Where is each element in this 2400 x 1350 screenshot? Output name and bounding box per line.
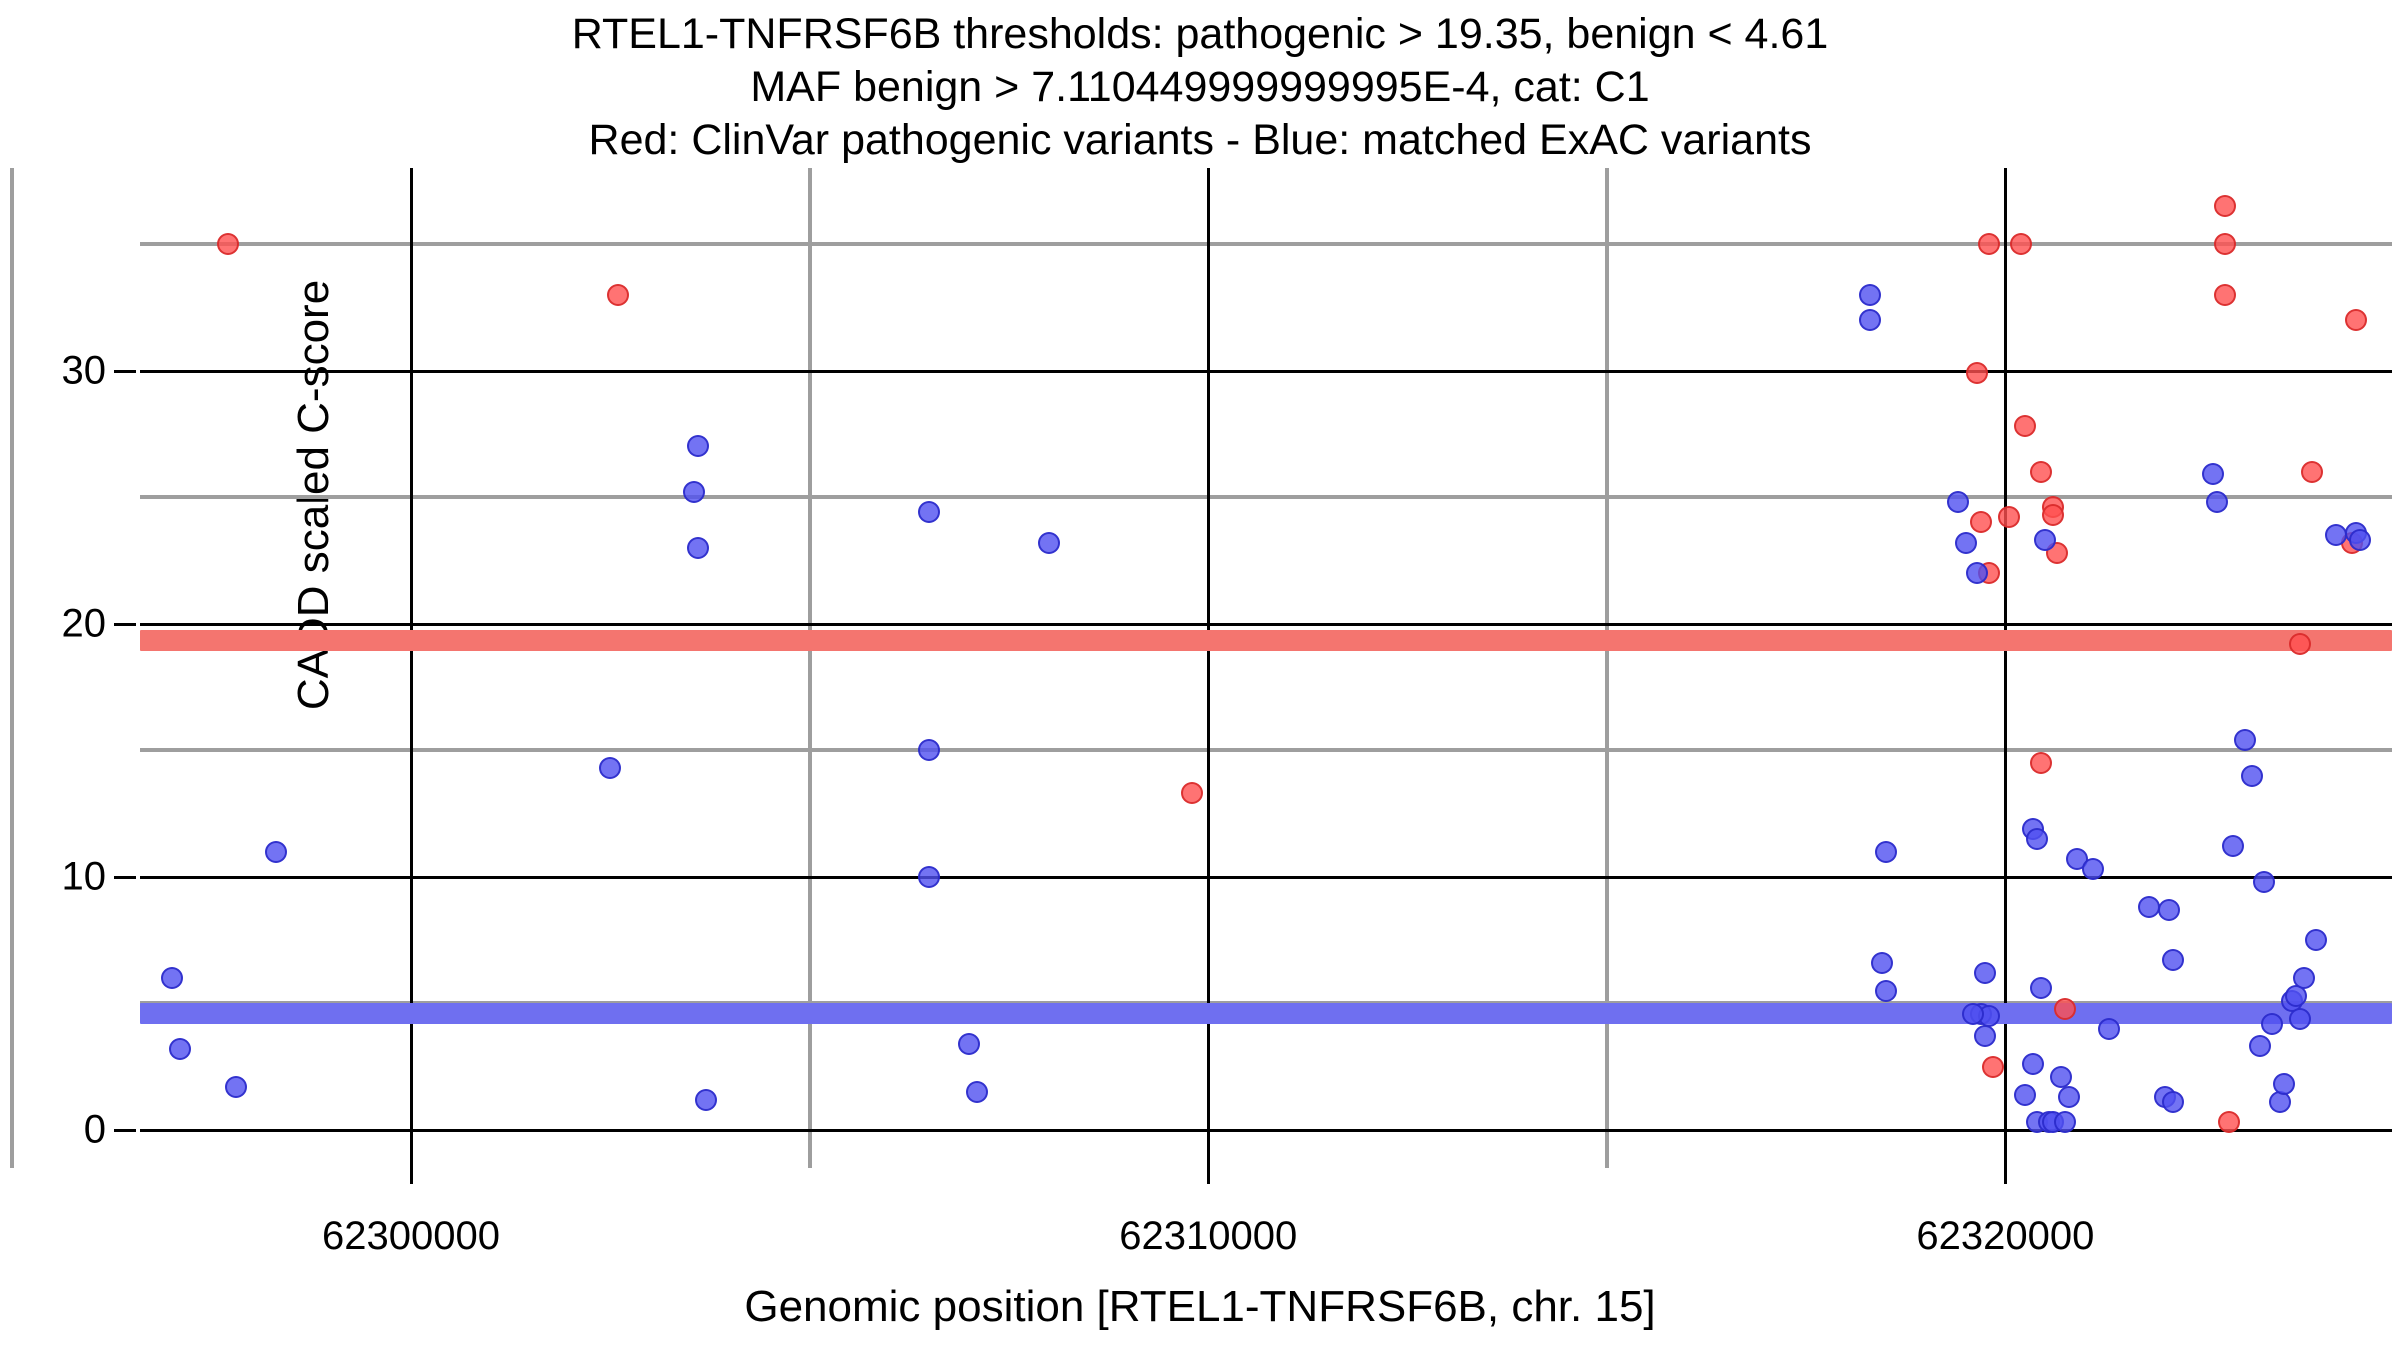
data-point-blue <box>265 841 287 863</box>
data-point-blue <box>1871 952 1893 974</box>
data-point-blue <box>2234 729 2256 751</box>
chart-canvas: RTEL1-TNFRSF6B thresholds: pathogenic > … <box>0 0 2400 1350</box>
x-axis-label: Genomic position [RTEL1-TNFRSF6B, chr. 1… <box>0 1282 2400 1332</box>
data-point-red <box>2054 998 2076 1020</box>
data-point-blue <box>918 739 940 761</box>
gridline-horizontal <box>140 748 2392 752</box>
data-point-blue <box>1955 532 1977 554</box>
title-line-3: Red: ClinVar pathogenic variants - Blue:… <box>0 114 2400 167</box>
data-point-red <box>1181 782 1203 804</box>
data-point-red <box>2214 284 2236 306</box>
x-tick-mark <box>410 1168 413 1184</box>
data-point-blue <box>695 1089 717 1111</box>
data-point-red <box>2042 504 2064 526</box>
data-point-blue <box>2289 1008 2311 1030</box>
data-point-blue <box>918 501 940 523</box>
data-point-blue <box>2349 529 2371 551</box>
title-line-1: RTEL1-TNFRSF6B thresholds: pathogenic > … <box>0 8 2400 61</box>
data-point-blue <box>2138 896 2160 918</box>
x-tick-mark <box>1207 1168 1210 1184</box>
axis-line-horizontal <box>140 623 2392 626</box>
data-point-blue <box>2202 463 2224 485</box>
data-point-blue <box>2305 929 2327 951</box>
gridline-vertical <box>10 168 14 1168</box>
x-tick-label: 62310000 <box>1119 1214 1297 1259</box>
data-point-blue <box>683 481 705 503</box>
data-point-blue <box>2030 977 2052 999</box>
data-point-blue <box>1974 1025 1996 1047</box>
y-tick-label: 20 <box>62 601 107 646</box>
data-point-red <box>2214 195 2236 217</box>
axis-line-horizontal <box>140 370 2392 373</box>
data-point-red <box>1978 233 2000 255</box>
data-point-red <box>2301 461 2323 483</box>
data-point-red <box>1982 1056 2004 1078</box>
data-point-blue <box>2014 1084 2036 1106</box>
x-tick-label: 62320000 <box>1916 1214 2094 1259</box>
data-point-blue <box>599 757 621 779</box>
data-point-red <box>607 284 629 306</box>
data-point-red <box>2010 233 2032 255</box>
x-tick-mark <box>2004 1168 2007 1184</box>
gridline-horizontal <box>140 242 2392 246</box>
y-tick-label: 30 <box>62 348 107 393</box>
data-point-blue <box>2293 967 2315 989</box>
data-point-blue <box>2249 1035 2271 1057</box>
data-point-blue <box>1974 962 1996 984</box>
data-point-red <box>2218 1111 2240 1133</box>
data-point-blue <box>1875 980 1897 1002</box>
data-point-red <box>2014 415 2036 437</box>
data-point-blue <box>966 1081 988 1103</box>
y-tick-mark <box>114 1129 136 1132</box>
y-tick-label: 10 <box>62 854 107 899</box>
y-tick-label: 0 <box>84 1108 106 1153</box>
data-point-blue <box>2162 949 2184 971</box>
data-point-blue <box>2253 871 2275 893</box>
data-point-blue <box>1859 284 1881 306</box>
data-point-blue <box>1947 491 1969 513</box>
data-point-red <box>2030 752 2052 774</box>
data-point-red <box>2345 309 2367 331</box>
data-point-blue <box>2098 1018 2120 1040</box>
data-point-blue <box>1875 841 1897 863</box>
data-point-red <box>1998 506 2020 528</box>
data-point-blue <box>1962 1003 1984 1025</box>
data-point-blue <box>918 866 940 888</box>
data-point-blue <box>2050 1066 2072 1088</box>
chart-title: RTEL1-TNFRSF6B thresholds: pathogenic > … <box>0 8 2400 167</box>
data-point-blue <box>161 967 183 989</box>
data-point-blue <box>2026 828 2048 850</box>
data-point-blue <box>2261 1013 2283 1035</box>
data-point-red <box>2214 233 2236 255</box>
data-point-red <box>2030 461 2052 483</box>
data-point-blue <box>1859 309 1881 331</box>
data-point-blue <box>687 435 709 457</box>
y-tick-mark <box>114 370 136 373</box>
y-tick-mark <box>114 876 136 879</box>
data-point-blue <box>225 1076 247 1098</box>
data-point-red <box>1966 362 1988 384</box>
y-tick-mark <box>114 623 136 626</box>
data-point-blue <box>2241 765 2263 787</box>
axis-line-horizontal <box>140 876 2392 879</box>
threshold-band-pathogenic <box>140 630 2392 651</box>
data-point-red <box>2289 633 2311 655</box>
data-point-blue <box>2222 835 2244 857</box>
data-point-blue <box>687 537 709 559</box>
data-point-blue <box>169 1038 191 1060</box>
data-point-red <box>1970 511 1992 533</box>
data-point-blue <box>2022 1053 2044 1075</box>
data-point-blue <box>2162 1091 2184 1113</box>
data-point-red <box>217 233 239 255</box>
data-point-blue <box>2206 491 2228 513</box>
title-line-2: MAF benign > 7.110449999999995E-4, cat: … <box>0 61 2400 114</box>
data-point-blue <box>1038 532 1060 554</box>
data-point-blue <box>2058 1086 2080 1108</box>
data-point-blue <box>958 1033 980 1055</box>
plot-area <box>140 168 2392 1168</box>
x-tick-label: 62300000 <box>322 1214 500 1259</box>
data-point-blue <box>2158 899 2180 921</box>
data-point-blue <box>2273 1073 2295 1095</box>
